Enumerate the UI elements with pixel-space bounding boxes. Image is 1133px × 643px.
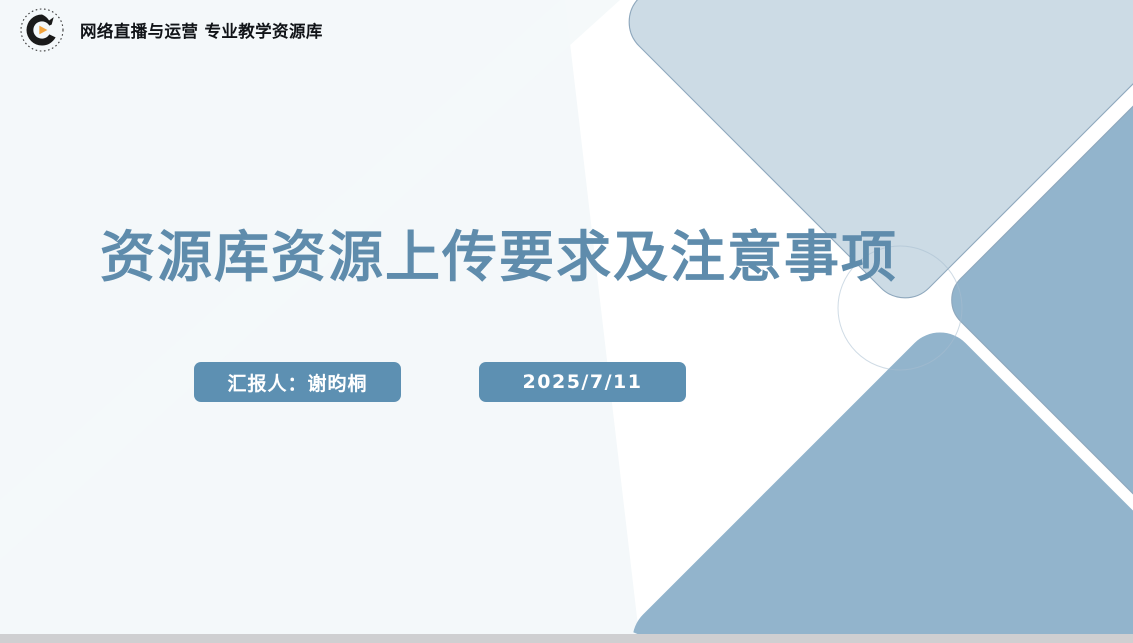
slide-header: 网络直播与运营 专业教学资源库	[0, 0, 323, 60]
presenter-badge: 汇报人：谢昀桐	[194, 362, 401, 402]
background-decoration	[0, 0, 1133, 643]
brand-logo	[18, 6, 66, 54]
brand-title: 网络直播与运营 专业教学资源库	[80, 18, 323, 42]
slide-canvas: 网络直播与运营 专业教学资源库 资源库资源上传要求及注意事项 汇报人：谢昀桐 2…	[0, 0, 1133, 643]
play-circle-logo-icon	[18, 6, 66, 54]
date-badge: 2025/7/11	[479, 362, 686, 402]
bottom-bar	[0, 634, 1133, 643]
meta-row: 汇报人：谢昀桐 2025/7/11	[194, 362, 686, 402]
page-title: 资源库资源上传要求及注意事项	[100, 227, 898, 288]
